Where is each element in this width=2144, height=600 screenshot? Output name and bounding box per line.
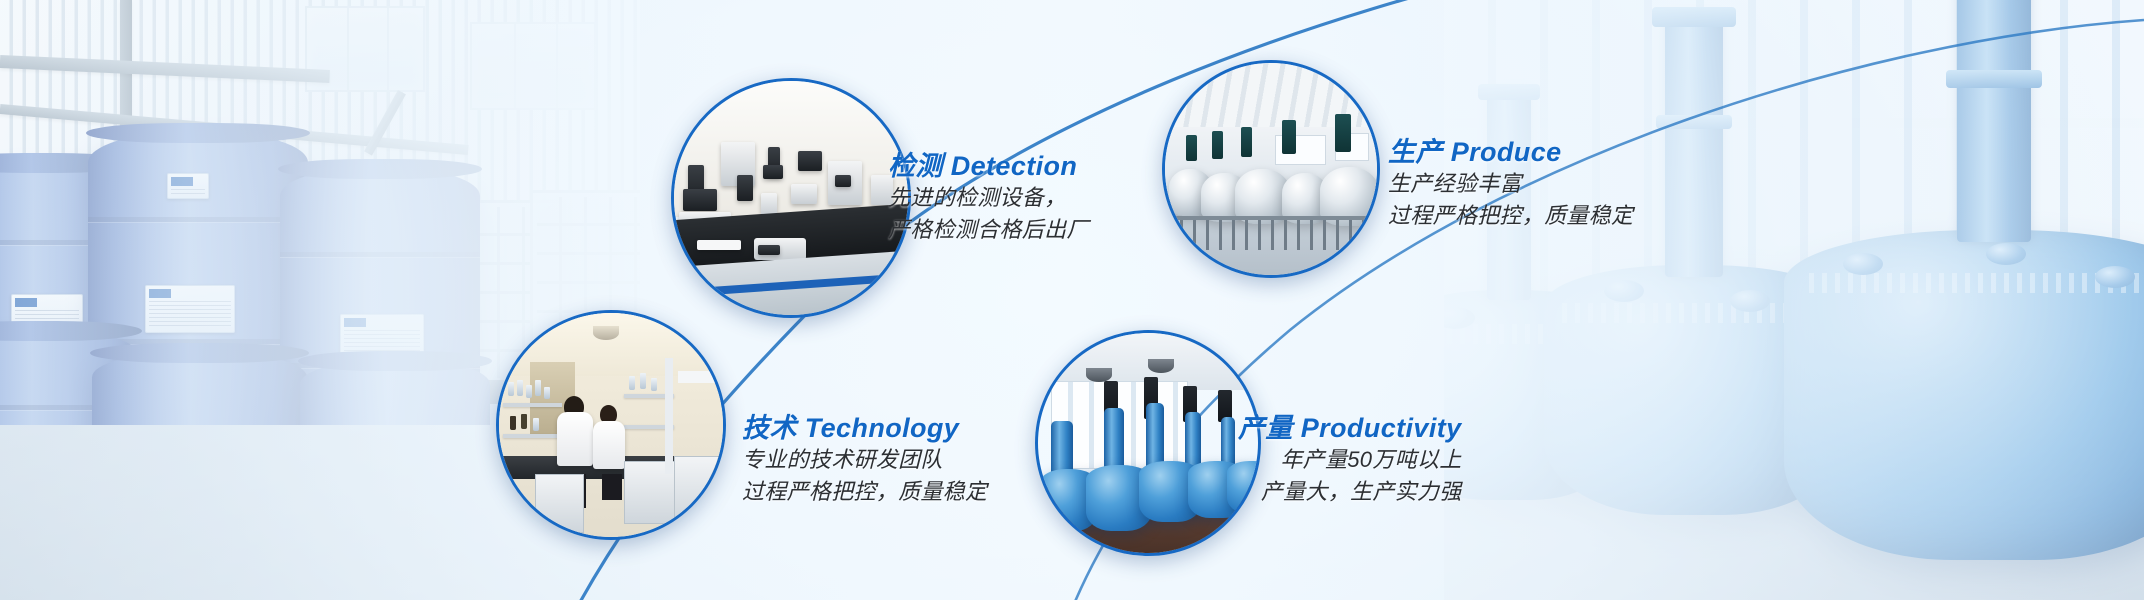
detection-lab-equipment-photo[interactable] <box>671 78 911 318</box>
feature-line: 年产量50万吨以上 <box>1238 444 1462 477</box>
productivity-blue-reactors-photo[interactable] <box>1035 330 1261 556</box>
produce-workshop-photo[interactable] <box>1162 60 1380 278</box>
feature-line: 先进的检测设备， <box>888 182 1089 215</box>
feature-block-detection: 检测 Detection 先进的检测设备， 严格检测合格后出厂 <box>888 152 1089 247</box>
feature-line: 专业的技术研发团队 <box>742 444 987 477</box>
feature-block-technology: 技术 Technology 专业的技术研发团队 过程严格把控，质量稳定 <box>742 414 987 509</box>
feature-block-productivity: 产量 Productivity 年产量50万吨以上 产量大，生产实力强 <box>1238 414 1462 509</box>
feature-line: 过程严格把控，质量稳定 <box>742 476 987 509</box>
feature-block-produce: 生产 Produce 生产经验丰富 过程严格把控，质量稳定 <box>1388 138 1633 233</box>
feature-title-technology: 技术 Technology <box>742 414 987 444</box>
feature-title-productivity: 产量 Productivity <box>1238 414 1462 444</box>
feature-title-detection: 检测 Detection <box>888 152 1089 182</box>
feature-line: 严格检测合格后出厂 <box>888 214 1089 247</box>
feature-line: 过程严格把控，质量稳定 <box>1388 200 1633 233</box>
technology-rnd-lab-photo[interactable] <box>496 310 726 540</box>
company-strength-banner: 检测 Detection 先进的检测设备， 严格检测合格后出厂 生产 Produ… <box>0 0 2144 600</box>
feature-line: 生产经验丰富 <box>1388 168 1633 201</box>
feature-title-produce: 生产 Produce <box>1388 138 1633 168</box>
feature-line: 产量大，生产实力强 <box>1238 476 1462 509</box>
